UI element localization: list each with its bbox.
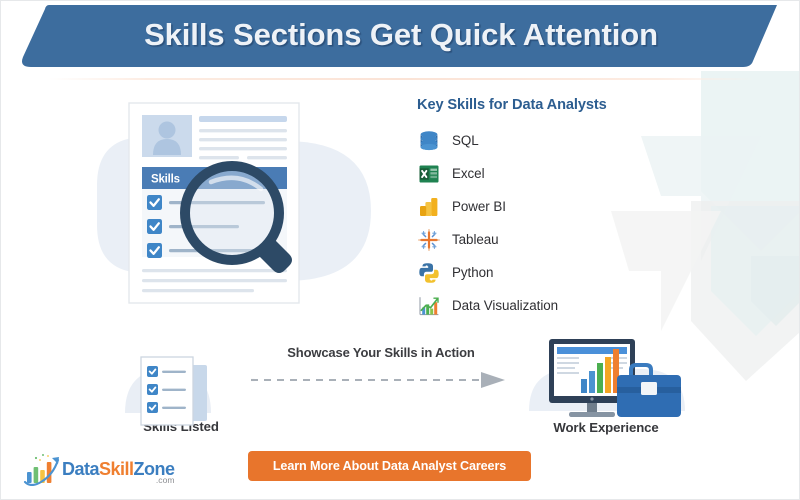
svg-text:Skills: Skills bbox=[151, 174, 180, 186]
skill-item-python: Python bbox=[417, 256, 657, 289]
skill-label: Excel bbox=[452, 166, 485, 181]
flow-middle-label: Showcase Your Skills in Action bbox=[251, 345, 511, 360]
logo-word-skill: Skill bbox=[99, 459, 134, 479]
database-icon bbox=[417, 129, 441, 153]
brand-logo[interactable]: DataSkillZone .com bbox=[23, 448, 175, 490]
skills-panel-heading: Key Skills for Data Analysts bbox=[417, 97, 657, 113]
power-bi-icon bbox=[417, 195, 441, 219]
bar-chart-line-icon bbox=[417, 294, 441, 318]
skill-item-excel: Excel bbox=[417, 157, 657, 190]
skill-label: Power BI bbox=[452, 199, 506, 214]
excel-icon bbox=[417, 162, 441, 186]
skill-label: Python bbox=[452, 265, 493, 280]
python-icon bbox=[417, 261, 441, 285]
logo-chart-icon bbox=[23, 452, 61, 486]
skill-item-power-bi: Power BI bbox=[417, 190, 657, 223]
work-experience-illustration bbox=[521, 335, 691, 431]
tableau-icon bbox=[417, 228, 441, 252]
skill-label: SQL bbox=[452, 133, 479, 148]
skills-listed-illustration bbox=[119, 339, 244, 441]
header-divider bbox=[49, 78, 755, 80]
infographic-canvas: Skills Sections Get Quick Attention Skil… bbox=[0, 0, 800, 500]
page-title: Skills Sections Get Quick Attention bbox=[1, 1, 800, 71]
skills-panel: Key Skills for Data Analysts SQL bbox=[417, 97, 657, 322]
skill-label: Data Visualization bbox=[452, 298, 558, 313]
logo-wordmark: DataSkillZone .com bbox=[62, 460, 175, 479]
learn-more-button[interactable]: Learn More About Data Analyst Careers bbox=[248, 451, 531, 481]
skill-item-sql: SQL bbox=[417, 124, 657, 157]
skill-label: Tableau bbox=[452, 232, 499, 247]
skill-item-tableau: Tableau bbox=[417, 223, 657, 256]
logo-dotcom: .com bbox=[156, 476, 175, 485]
logo-word-data: Data bbox=[62, 459, 99, 479]
flow-arrow-icon bbox=[249, 369, 511, 391]
skill-item-data-visualization: Data Visualization bbox=[417, 289, 657, 322]
resume-illustration: Skills bbox=[89, 89, 379, 321]
